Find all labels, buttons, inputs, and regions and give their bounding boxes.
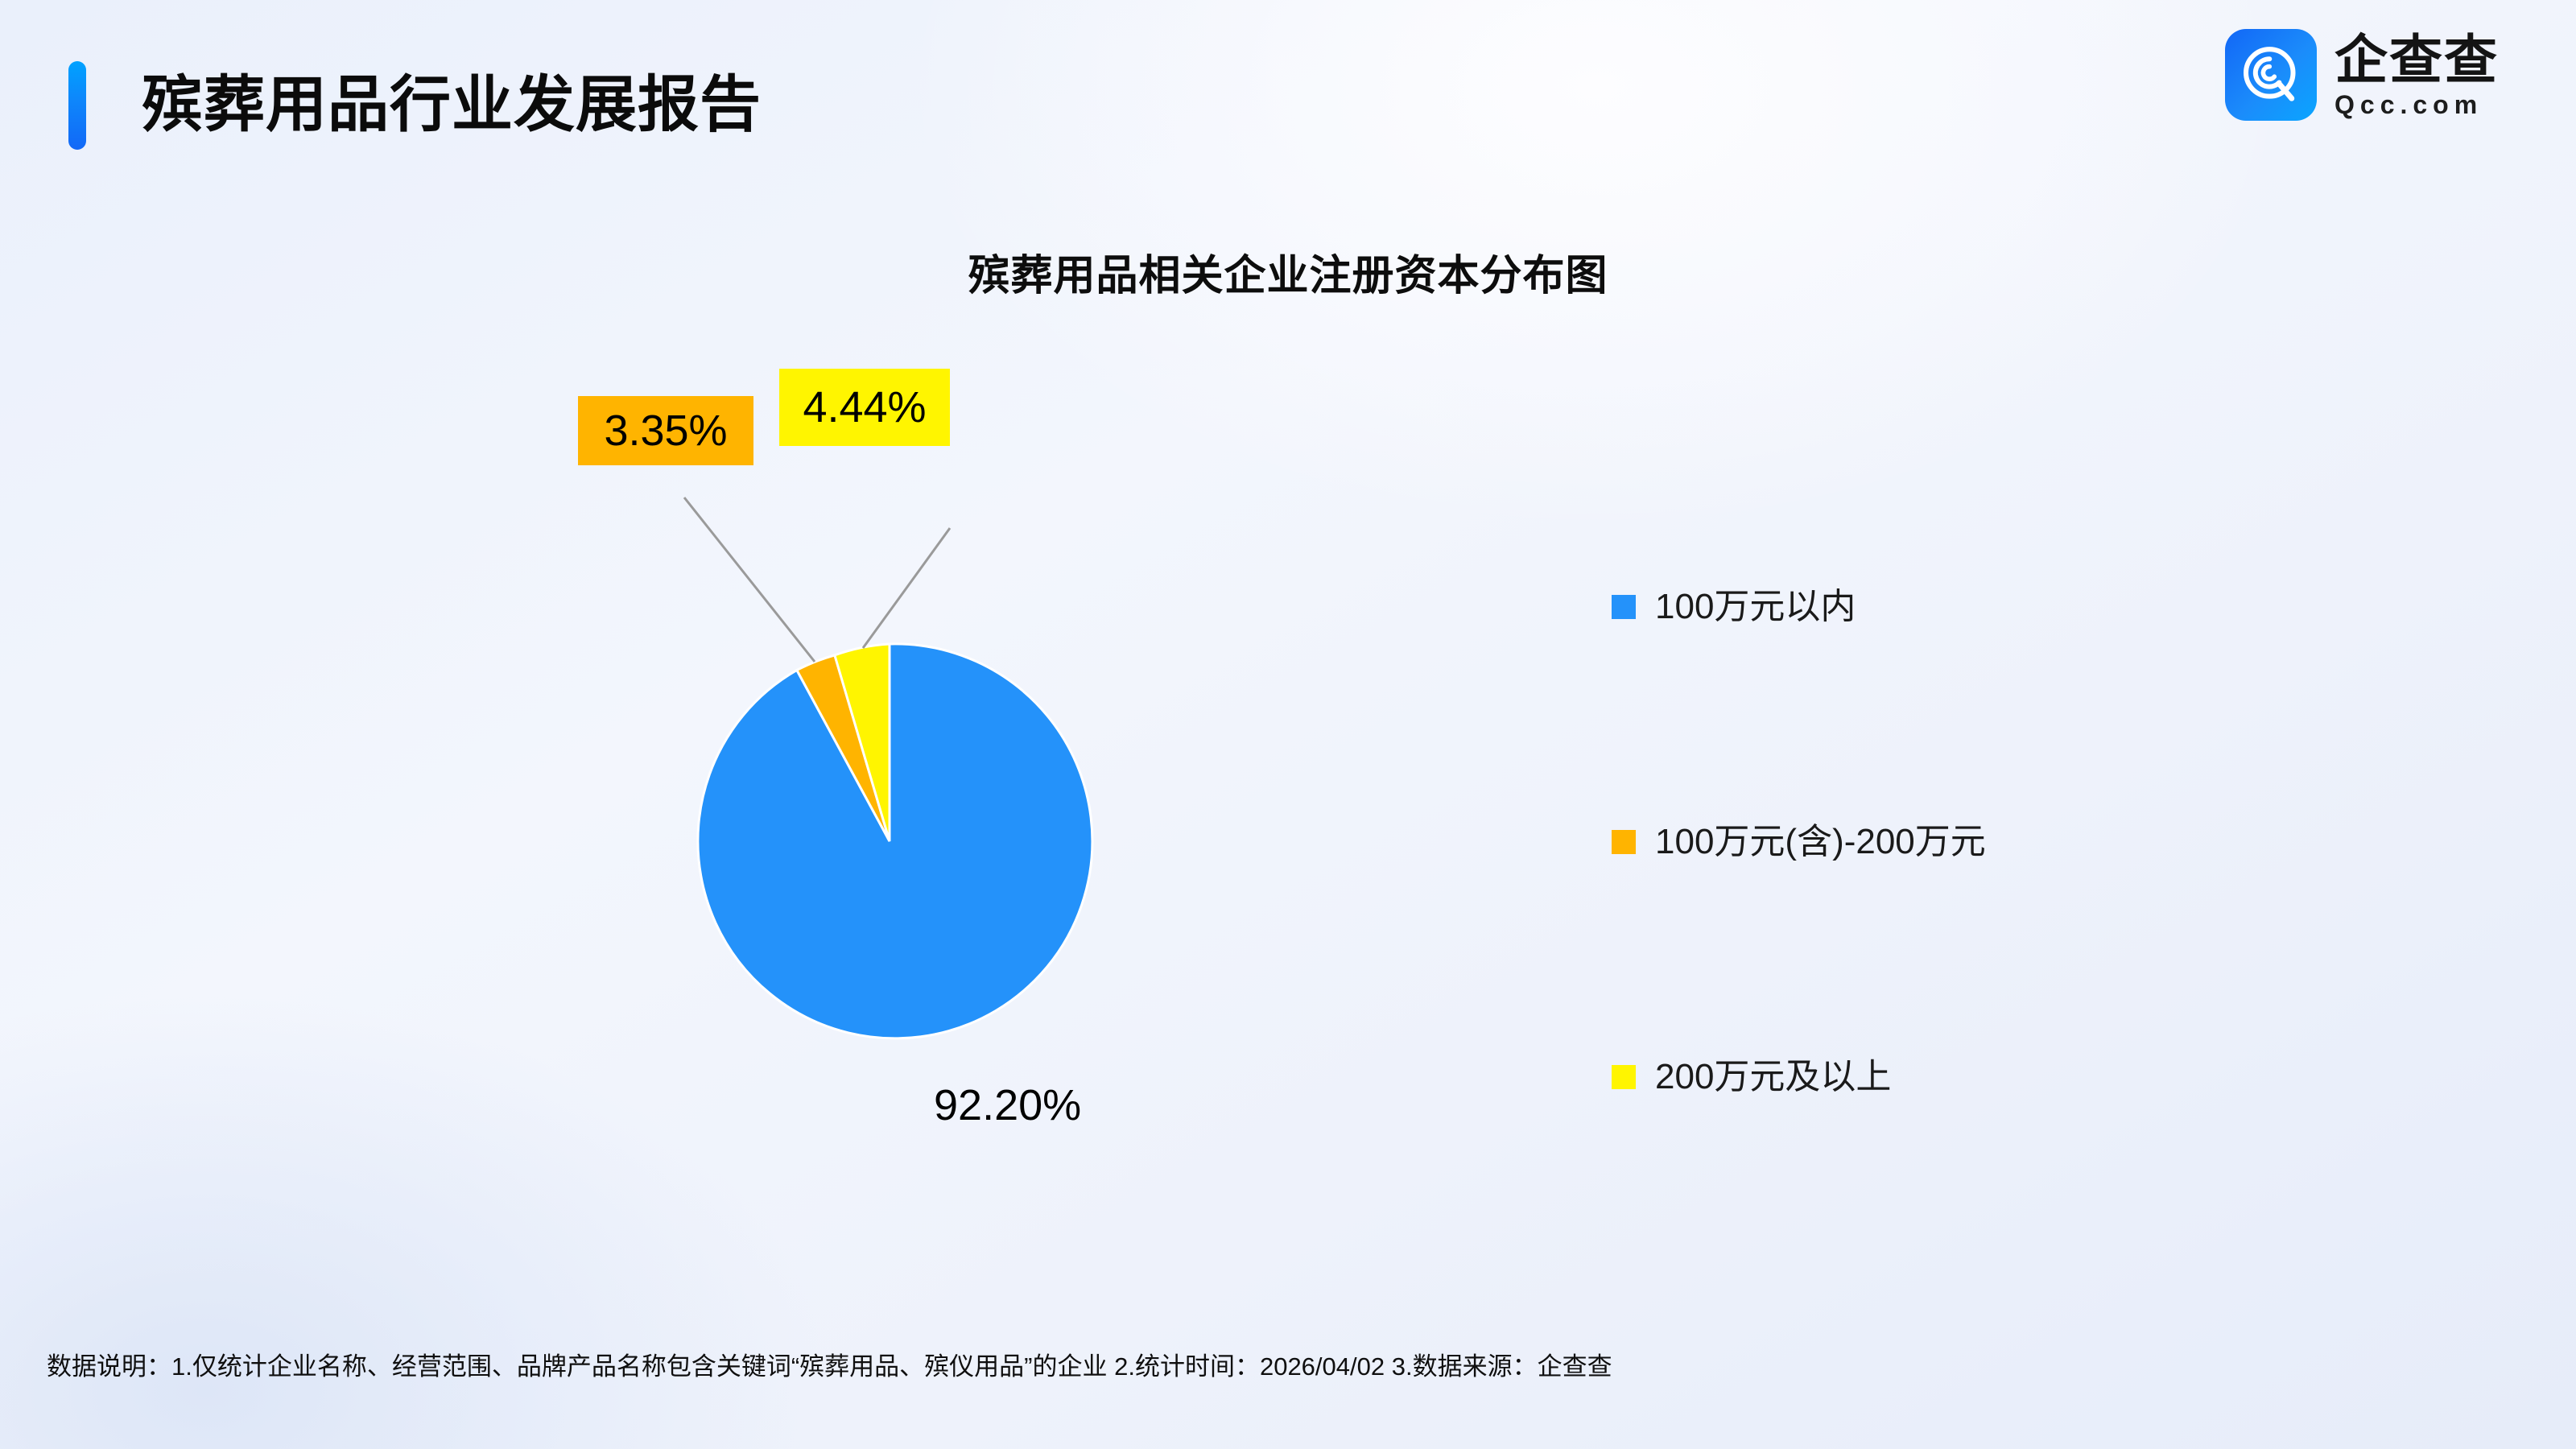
brand-logo-text: 企查查 Qcc.com	[2334, 31, 2499, 119]
legend-item-label: 100万元(含)-200万元	[1655, 824, 1986, 860]
legend-item-200万元及以上[interactable]: 200万元及以上	[1612, 1059, 1986, 1095]
legend-swatch-icon	[1612, 830, 1636, 854]
legend-item-label: 200万元及以上	[1655, 1059, 1891, 1095]
leader-line-yellow	[863, 528, 950, 648]
chart-title: 殡葬用品相关企业注册资本分布图	[0, 242, 2576, 302]
legend-swatch-icon	[1612, 1065, 1636, 1089]
callout-label-yellow: 4.44%	[779, 369, 950, 446]
pie-slice-100万元以内	[698, 644, 1092, 1038]
brand-name-cn: 企查查	[2334, 31, 2499, 89]
brand-name-en: Qcc.com	[2334, 90, 2499, 119]
legend-swatch-icon	[1612, 595, 1636, 619]
report-page: 殡葬用品行业发展报告 企查查 Qcc.com 殡葬用品相关企业注册资本分布图	[0, 0, 2576, 1449]
title-accent-bar	[68, 61, 86, 150]
legend-item-100万元以内[interactable]: 100万元以内	[1612, 589, 1986, 625]
callout-label-orange: 3.35%	[578, 396, 753, 465]
pie-slice-label-primary: 92.20%	[934, 1080, 1081, 1130]
page-title: 殡葬用品行业发展报告	[142, 58, 762, 153]
legend-item-100万元含-200万元[interactable]: 100万元(含)-200万元	[1612, 824, 1986, 860]
chart-legend: 100万元以内 100万元(含)-200万元 200万元及以上	[1612, 589, 1986, 1095]
leader-line-orange	[684, 497, 815, 662]
legend-item-label: 100万元以内	[1655, 589, 1856, 625]
qcc-logo-icon	[2225, 29, 2317, 121]
pie-chart	[499, 451, 1296, 1248]
brand-logo: 企查查 Qcc.com	[2225, 29, 2499, 121]
data-note: 数据说明：1.仅统计企业名称、经营范围、品牌产品名称包含关键词“殡葬用品、殡仪用…	[47, 1346, 1612, 1382]
